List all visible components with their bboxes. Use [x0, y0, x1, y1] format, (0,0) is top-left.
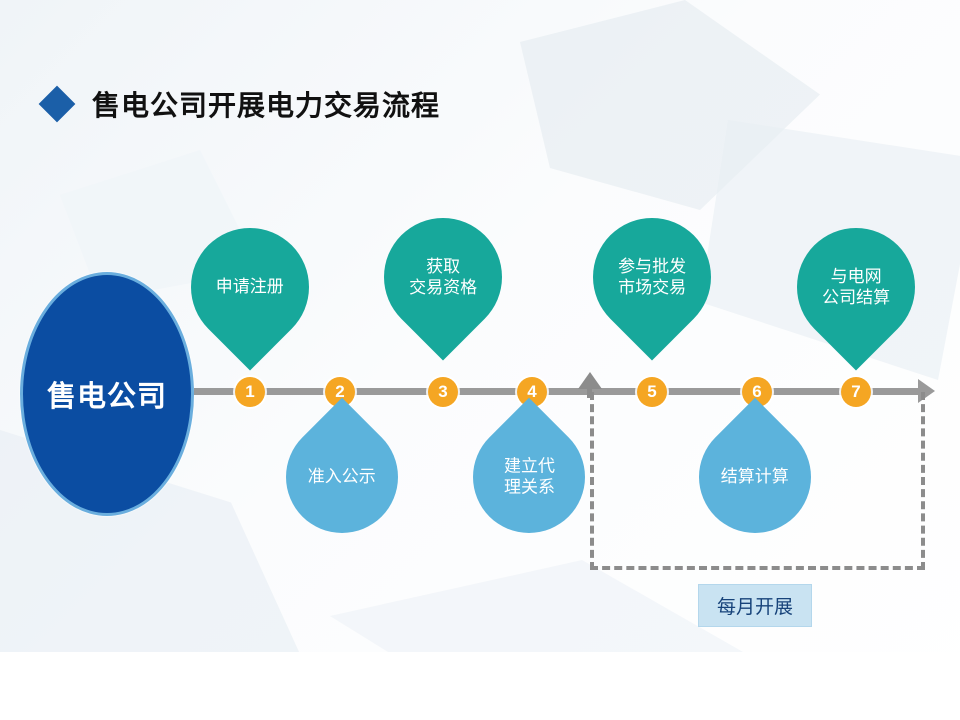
step-pin-access-publicity: 准入公示	[263, 398, 421, 556]
step-pin-label: 准入公示	[308, 466, 376, 487]
step-pin-apply-registration: 申请注册	[167, 204, 334, 371]
monthly-group-box	[590, 392, 925, 570]
slide-footer: 广东电力交易中心	[0, 652, 960, 720]
background-polygon	[520, 0, 820, 210]
slide-title-row: 售电公司开展电力交易流程	[44, 84, 440, 124]
slide-canvas: 售电公司开展电力交易流程 售电公司 1 2 3 4 5 6 7 申请注册 获取 …	[0, 0, 960, 720]
timeline-marker-1: 1	[235, 377, 265, 407]
monthly-tag: 每月开展	[698, 584, 812, 627]
page-title: 售电公司开展电力交易流程	[92, 84, 440, 124]
step-pin-label: 建立代 理关系	[504, 456, 555, 499]
diamond-icon	[39, 86, 76, 123]
step-pin-label: 与电网 公司结算	[822, 266, 890, 309]
step-pin-obtain-qualification: 获取 交易资格	[360, 194, 527, 361]
step-pin-wholesale-market: 参与批发 市场交易	[569, 194, 736, 361]
step-pin-label: 获取 交易资格	[409, 256, 477, 299]
step-pin-label: 参与批发 市场交易	[618, 256, 686, 299]
step-pin-label: 申请注册	[216, 276, 284, 297]
step-pin-agency-relationship: 建立代 理关系	[450, 398, 608, 556]
step-pin-grid-settlement: 与电网 公司结算	[773, 204, 940, 371]
timeline-marker-3: 3	[428, 377, 458, 407]
entity-node-label: 售电公司	[47, 373, 167, 415]
entity-node-seller: 售电公司	[20, 272, 194, 516]
